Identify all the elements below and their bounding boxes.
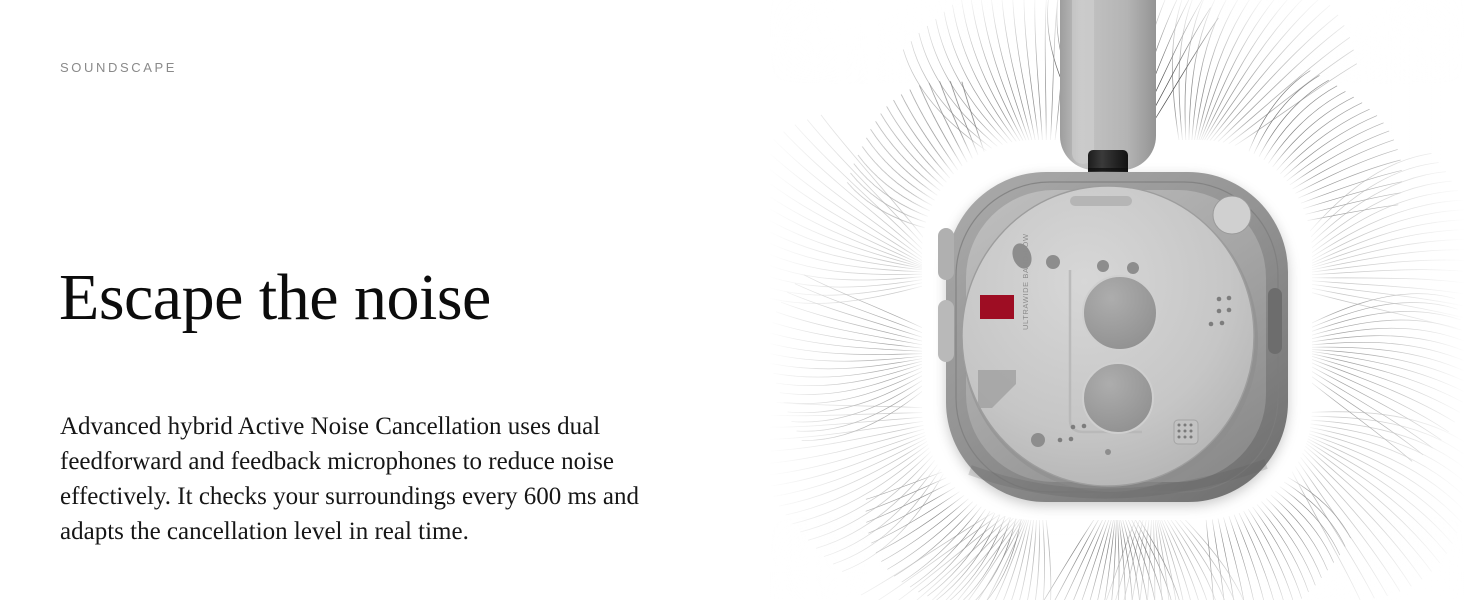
- side-port-right[interactable]: [1268, 288, 1282, 354]
- side-button-lower[interactable]: [938, 300, 954, 362]
- hero-section: SOUNDSCAPE Escape the noise Advanced hyb…: [0, 0, 1464, 600]
- micro-label: ULTRAWIDE BAND-LOW: [1021, 233, 1030, 330]
- headphone-cutaway-illustration: ULTRAWIDE BAND-LOW: [770, 0, 1464, 600]
- headband-stem: [1060, 0, 1156, 170]
- product-visual: ULTRAWIDE BAND-LOW: [770, 0, 1464, 600]
- side-button-upper[interactable]: [938, 228, 954, 280]
- red-accent-marker: [980, 295, 1014, 319]
- body-paragraph: Advanced hybrid Active Noise Cancellatio…: [60, 409, 685, 549]
- copy-column: SOUNDSCAPE Escape the noise Advanced hyb…: [0, 0, 770, 600]
- driver-upper: [1083, 276, 1157, 350]
- power-button[interactable]: [1213, 196, 1251, 234]
- eyebrow-label: SOUNDSCAPE: [60, 60, 177, 75]
- microphone-grille: [1174, 420, 1198, 444]
- driver-lower: [1083, 363, 1153, 433]
- page-title: Escape the noise: [59, 264, 491, 331]
